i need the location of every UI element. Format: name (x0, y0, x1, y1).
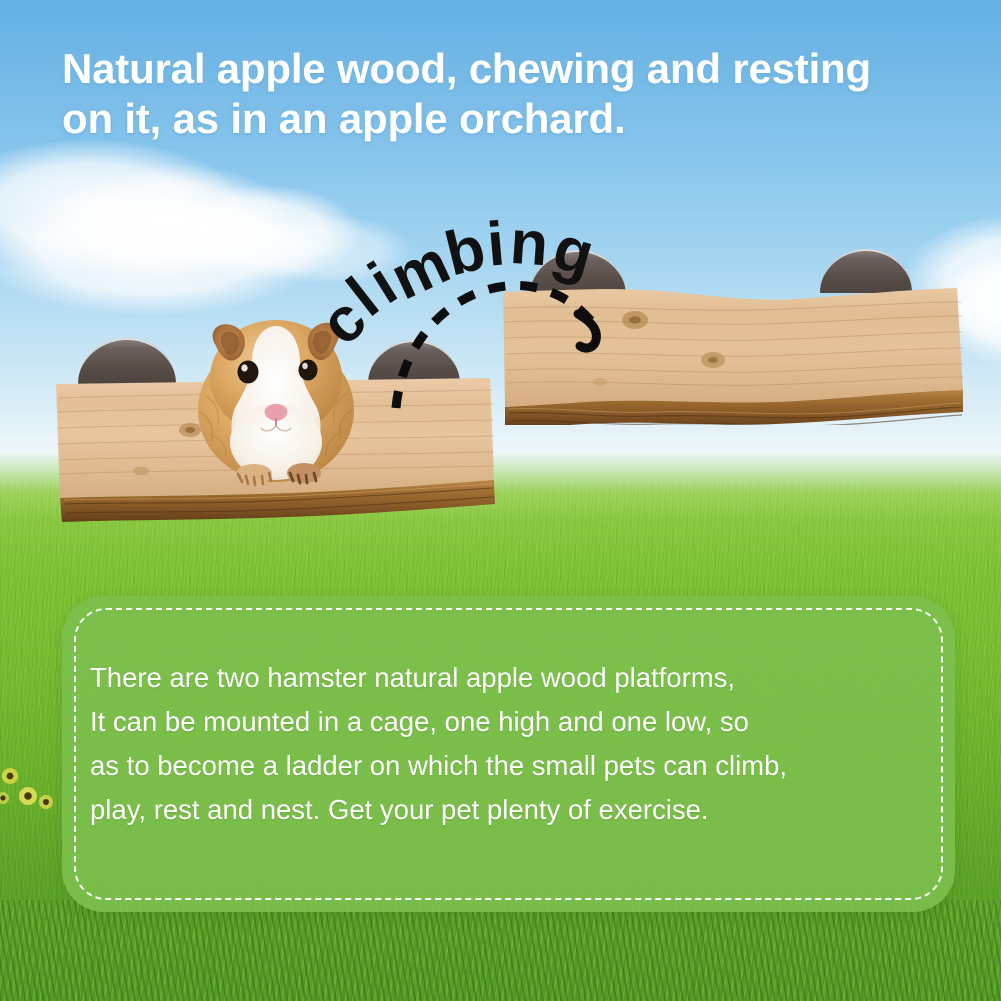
flowers-icon (0, 762, 60, 822)
page-title: Natural apple wood, chewing and resting … (62, 44, 962, 144)
description-panel: There are two hamster natural apple wood… (62, 596, 955, 912)
description-text: There are two hamster natural apple wood… (90, 656, 931, 832)
product-marketing-image: Natural apple wood, chewing and resting … (0, 0, 1001, 1001)
climbing-annotation: c l i m b i n g (330, 210, 660, 430)
